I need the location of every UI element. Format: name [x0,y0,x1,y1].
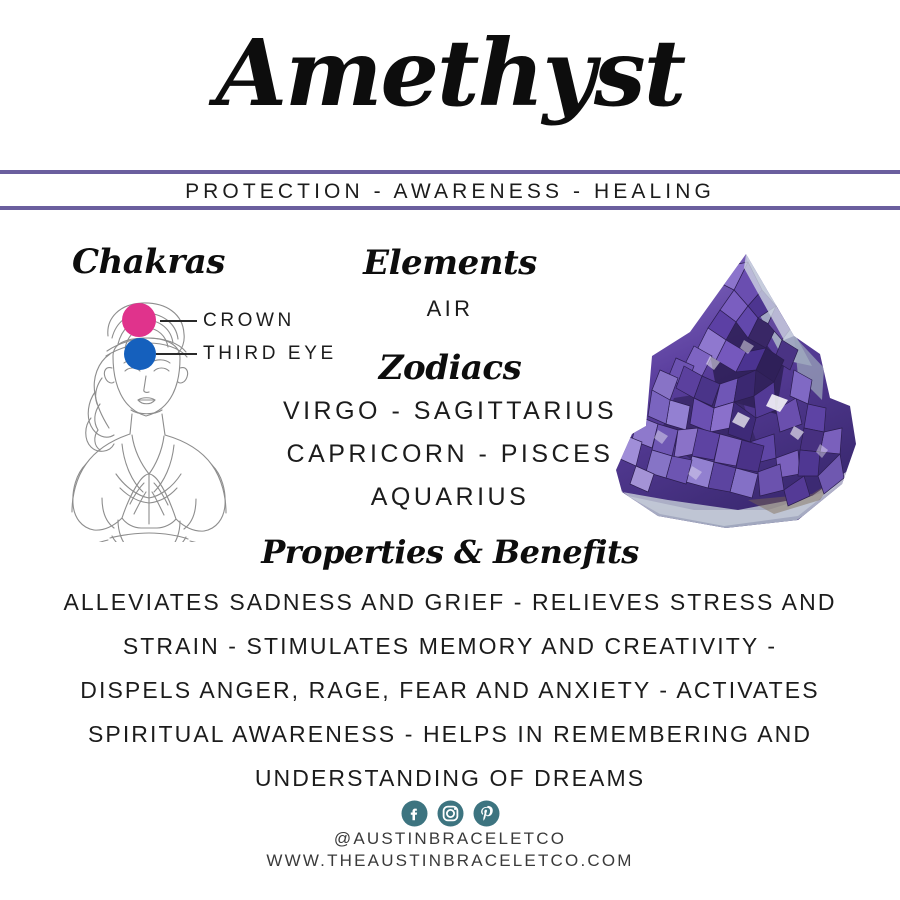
zodiacs-heading: Zodiacs [280,348,620,388]
properties-line: DISPELS ANGER, RAGE, FEAR AND ANXIETY - … [20,668,880,712]
tagline: PROTECTION - AWARENESS - HEALING [0,178,900,206]
amethyst-crystal-image [598,248,898,548]
page-title: Amethyst [0,18,900,128]
properties-heading: Properties & Benefits [150,532,750,572]
elements-value: AIR [270,294,630,324]
amethyst-info-card: Amethyst PROTECTION - AWARENESS - HEALIN… [0,0,900,900]
website-url: WWW.THEAUSTINBRACELETCO.COM [0,851,900,871]
social-links-row [0,800,900,832]
properties-line: SPIRITUAL AWARENESS - HELPS IN REMEMBERI… [20,712,880,756]
properties-list: ALLEVIATES SADNESS AND GRIEF - RELIEVES … [20,580,880,800]
properties-line: UNDERSTANDING OF DREAMS [20,756,880,800]
crown-chakra-dot [122,303,156,337]
properties-line: STRAIN - STIMULATES MEMORY AND CREATIVIT… [20,624,880,668]
elements-heading: Elements [280,243,620,283]
zodiac-row: AQUARIUS [270,482,630,512]
divider-line-top [0,170,900,174]
social-handle: @AUSTINBRACELETCO [0,829,900,849]
properties-line: ALLEVIATES SADNESS AND GRIEF - RELIEVES … [20,580,880,624]
divider-line-bottom [0,206,900,210]
crown-leader-line [160,320,197,322]
zodiac-row: VIRGO - SAGITTARIUS [270,396,630,426]
pinterest-icon[interactable] [473,800,500,832]
zodiac-row: CAPRICORN - PISCES [270,439,630,469]
third-eye-leader-line [156,353,197,355]
chakras-heading: Chakras [72,242,225,282]
instagram-icon[interactable] [437,800,464,832]
facebook-icon[interactable] [401,800,428,832]
third-eye-chakra-dot [124,338,156,370]
